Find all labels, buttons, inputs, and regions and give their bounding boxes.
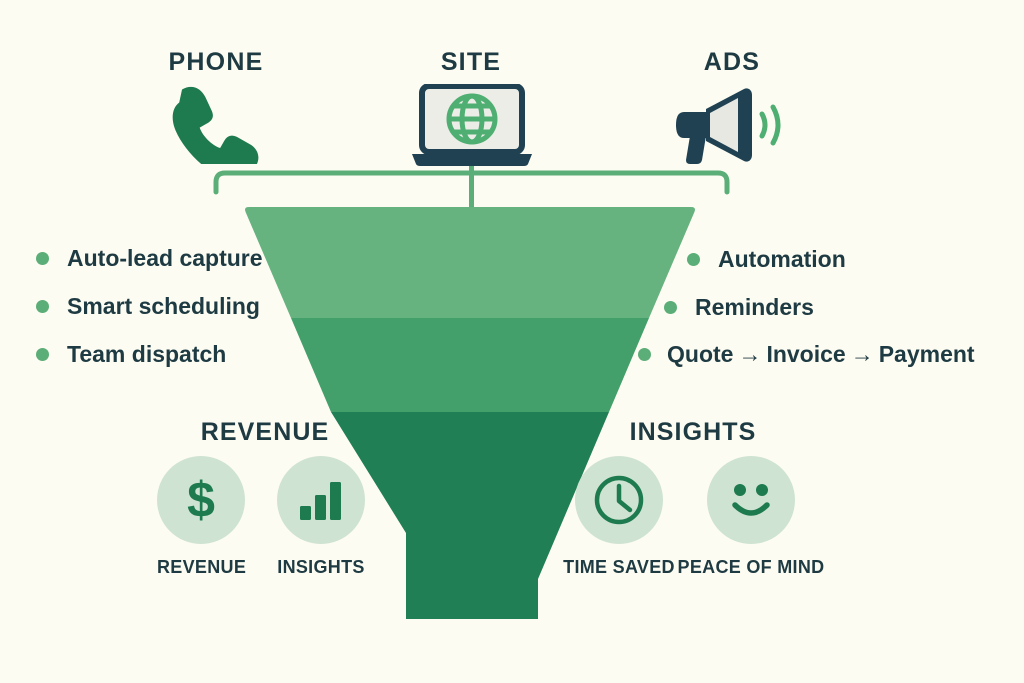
- feature-item-right-3: Quote→Invoice→Payment: [638, 341, 975, 368]
- clock-icon: [593, 474, 645, 526]
- feature-label: Smart scheduling: [67, 293, 260, 320]
- outcome-badge-peace-of-mind[interactable]: PEACE OF MIND: [707, 456, 795, 578]
- pipeline-arrow-1: →: [738, 341, 761, 368]
- feature-item-right-1: Automation: [687, 246, 846, 273]
- funnel-stem: [406, 533, 538, 619]
- source-label-ads: ADS: [657, 48, 807, 77]
- outcome-badge-insights[interactable]: INSIGHTS: [277, 456, 365, 578]
- sound-waves-icon: [762, 107, 778, 143]
- badge-circle: [277, 456, 365, 544]
- svg-text:$: $: [187, 473, 215, 527]
- feature-item-left-3: Team dispatch: [36, 341, 226, 368]
- bullet-dot-icon: [36, 348, 49, 361]
- feature-item-right-2: Reminders: [664, 294, 814, 321]
- bullet-dot-icon: [664, 301, 677, 314]
- feature-item-left-2: Smart scheduling: [36, 293, 260, 320]
- badge-circle: $: [157, 456, 245, 544]
- smiley-face-icon: [723, 475, 779, 525]
- outcome-badge-revenue[interactable]: $ REVENUE: [157, 456, 245, 578]
- outcome-group-heading-revenue: REVENUE: [180, 418, 350, 447]
- bullet-dot-icon: [36, 252, 49, 265]
- laptop-globe-icon: [410, 84, 534, 168]
- feature-item-left-1: Auto-lead capture: [36, 245, 263, 272]
- outcome-badge-time-saved[interactable]: TIME SAVED: [575, 456, 663, 578]
- bullet-dot-icon: [687, 253, 700, 266]
- pipeline-stage-invoice: Invoice: [766, 341, 845, 367]
- outcome-group-heading-insights: INSIGHTS: [608, 418, 778, 447]
- pipeline-stage-quote: Quote: [667, 341, 733, 367]
- bullet-dot-icon: [36, 300, 49, 313]
- phone-handset-icon: [172, 86, 260, 164]
- feature-label-pipeline: Quote→Invoice→Payment: [667, 341, 975, 368]
- source-label-phone: PHONE: [141, 48, 291, 77]
- funnel-band-top: [245, 207, 695, 318]
- source-label-site: SITE: [396, 48, 546, 77]
- badge-caption: INSIGHTS: [277, 557, 365, 578]
- badge-caption: REVENUE: [157, 557, 245, 578]
- feature-label: Auto-lead capture: [67, 245, 263, 272]
- dollar-sign-icon: $: [179, 473, 223, 527]
- feature-label: Team dispatch: [67, 341, 226, 368]
- pipeline-arrow-2: →: [851, 341, 874, 368]
- feature-label: Reminders: [695, 294, 814, 321]
- feature-label: Automation: [718, 246, 846, 273]
- bar-chart-icon: [298, 478, 344, 522]
- badge-caption: PEACE OF MIND: [675, 557, 827, 578]
- badge-circle: [707, 456, 795, 544]
- funnel-band-middle: [291, 318, 649, 412]
- megaphone-icon: [676, 86, 792, 164]
- bullet-dot-icon: [638, 348, 651, 361]
- pipeline-stage-payment: Payment: [879, 341, 975, 367]
- diagram-canvas: PHONE SITE ADS: [0, 0, 1024, 683]
- badge-caption: TIME SAVED: [543, 557, 695, 578]
- badge-circle: [575, 456, 663, 544]
